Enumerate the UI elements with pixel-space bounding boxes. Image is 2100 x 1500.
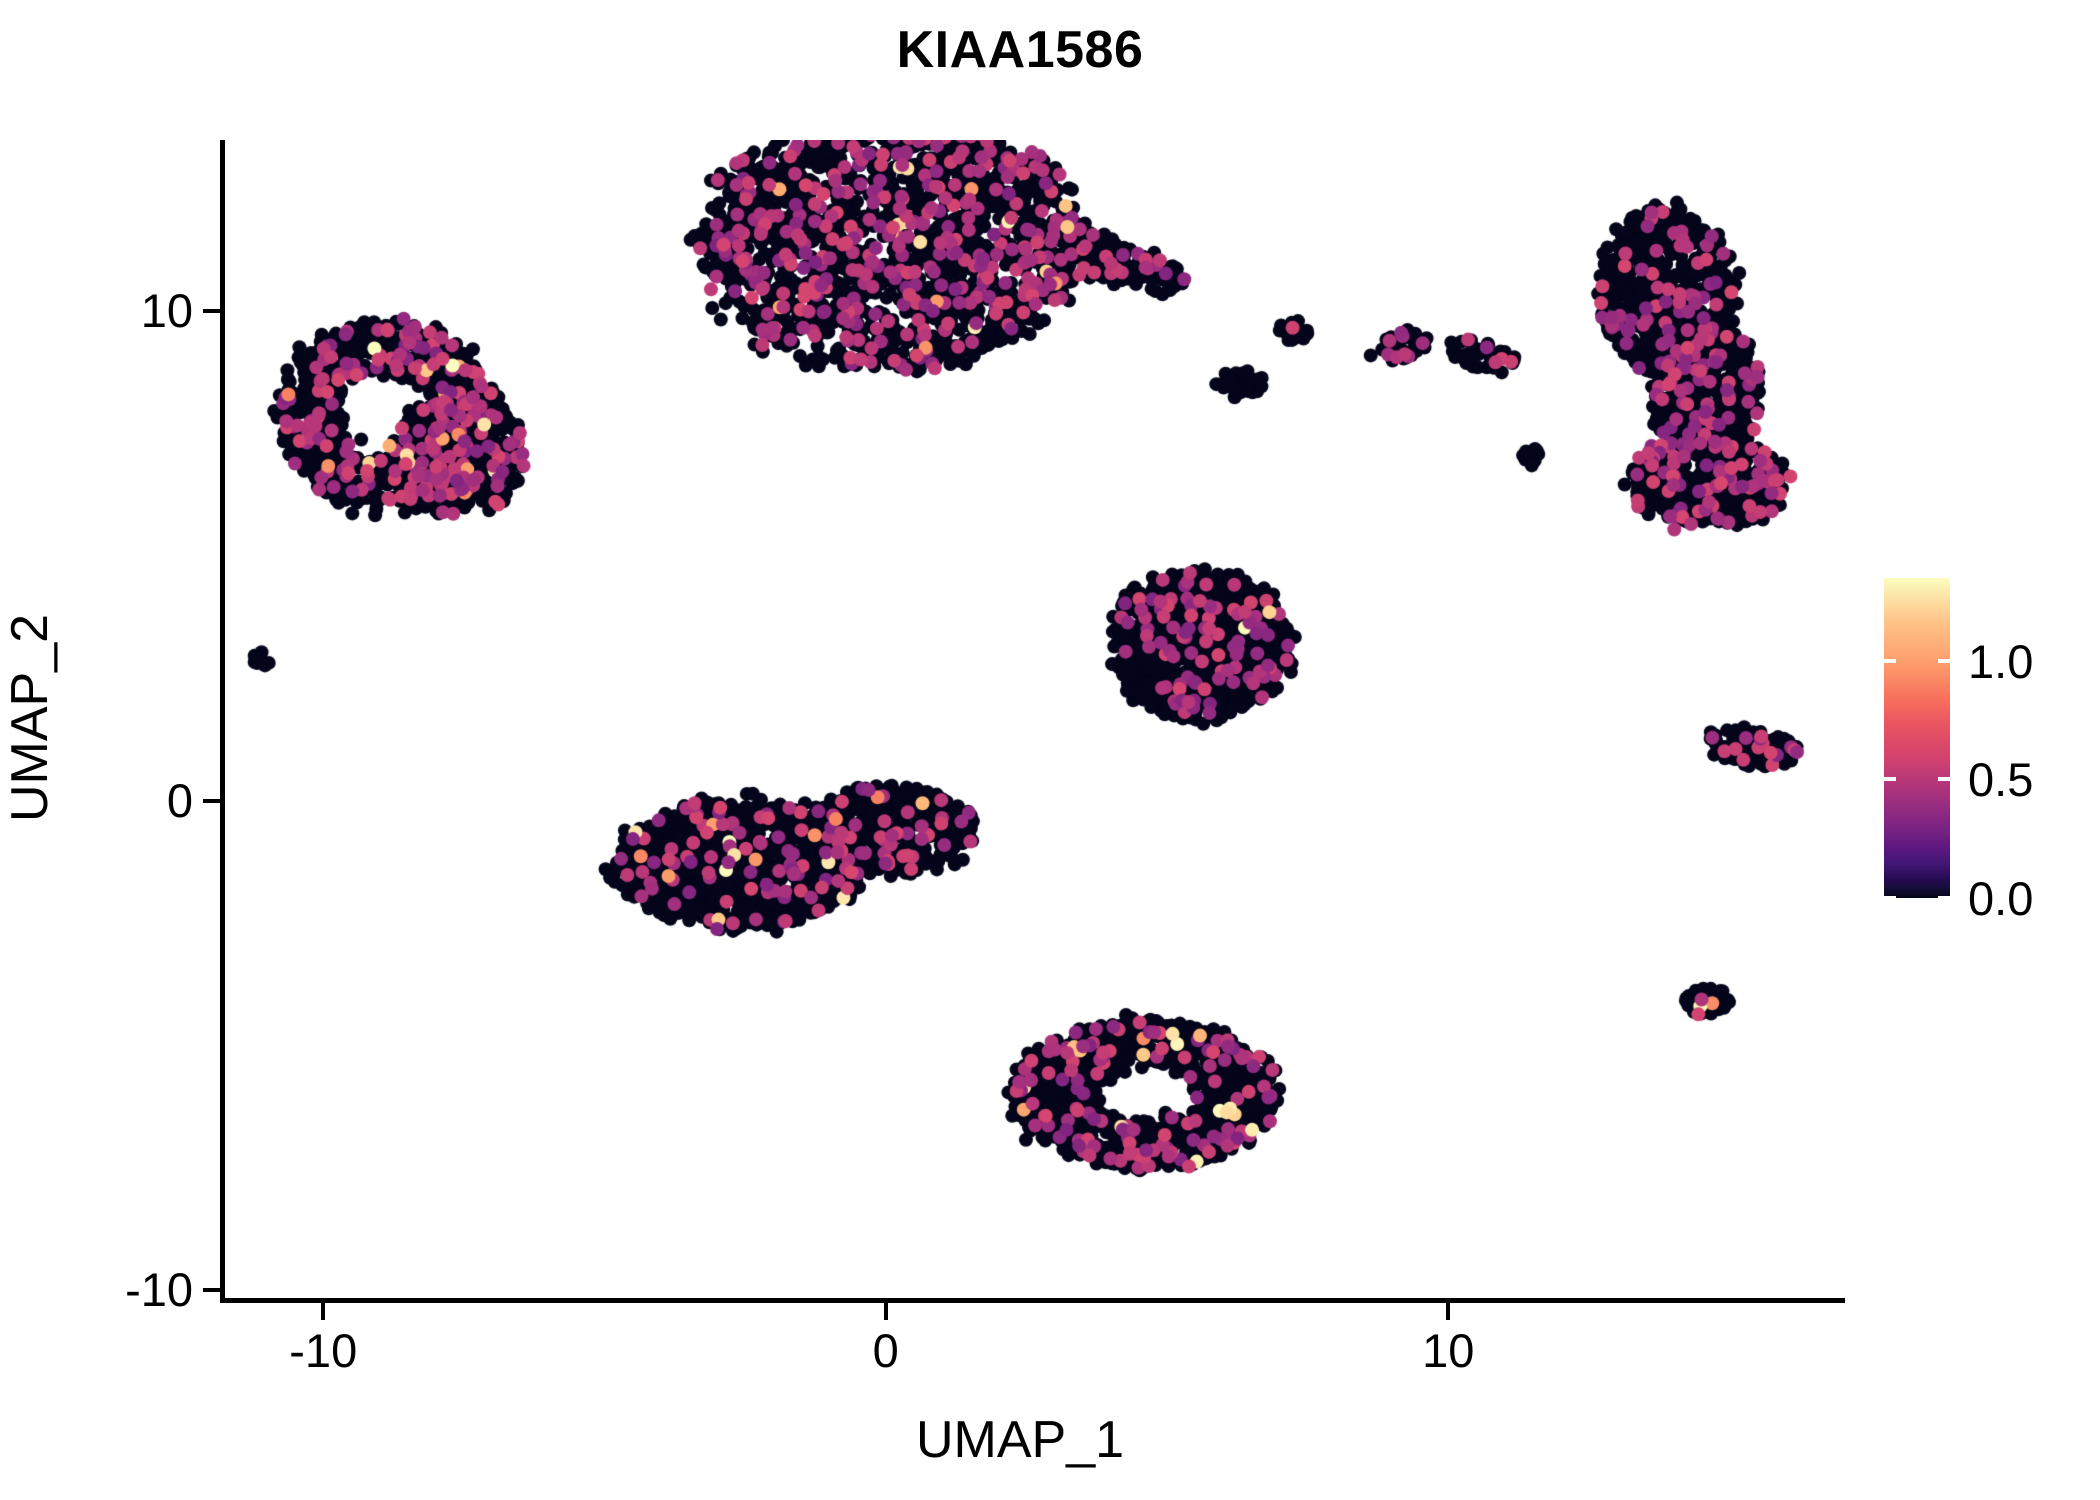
x-tick-mark [321, 1303, 325, 1320]
page-title: KIAA1586 [0, 22, 2040, 79]
scatter-points-layer [222, 140, 1842, 1300]
colorbar-tick-mark [1938, 896, 1950, 900]
x-tick-mark [884, 1303, 888, 1320]
colorbar-tick-mark [1884, 896, 1896, 900]
colorbar-gradient [1884, 578, 1950, 898]
colorbar-tick-mark [1938, 777, 1950, 781]
colorbar-tick-mark [1884, 659, 1896, 663]
chart-canvas: KIAA1586 -10010 -10010 UMAP_1 UMAP_2 1.0… [0, 0, 2100, 1500]
y-tick-mark [203, 799, 220, 803]
colorbar-tick-mark [1938, 659, 1950, 663]
x-axis-line [220, 1298, 1845, 1303]
colorbar-legend: 1.00.50.0 [1884, 578, 2084, 900]
x-axis-label: UMAP_1 [0, 1412, 2040, 1468]
colorbar-tick-label: 0.0 [1968, 875, 2033, 922]
y-tick-mark [203, 1288, 220, 1292]
y-axis-line [220, 140, 225, 1303]
colorbar-tick-label: 1.0 [1968, 638, 2033, 685]
x-tick-mark [1446, 1303, 1450, 1320]
y-axis-label: UMAP_2 [2, 508, 58, 928]
colorbar-tick-mark [1884, 777, 1896, 781]
scatter-plot-area [222, 140, 1842, 1300]
y-tick-mark [203, 309, 220, 313]
colorbar-tick-label: 0.5 [1968, 756, 2033, 803]
